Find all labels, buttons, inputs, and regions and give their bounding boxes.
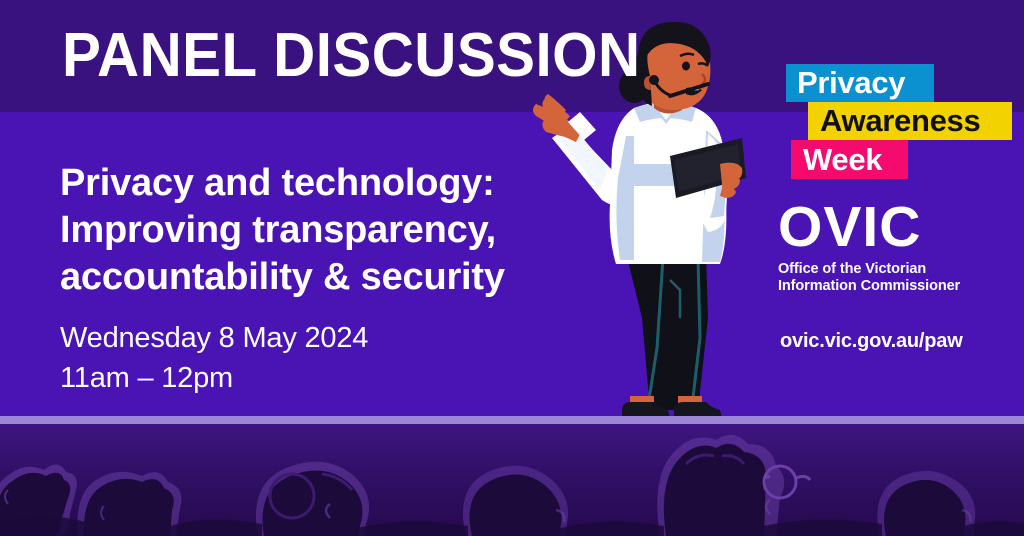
- ovic-subtitle: Office of the Victorian Information Comm…: [778, 261, 960, 295]
- headline-line-2: Improving transparency,: [60, 207, 590, 254]
- badge-awareness: Awareness: [808, 102, 1012, 140]
- privacy-awareness-week-badges: Privacy Awareness Week: [780, 64, 1020, 184]
- kicker-heading: PANEL DISCUSSION: [62, 22, 641, 90]
- ovic-subtitle-line-1: Office of the Victorian: [778, 261, 960, 278]
- headline: Privacy and technology: Improving transp…: [60, 160, 590, 301]
- headline-line-1: Privacy and technology:: [60, 160, 590, 207]
- promo-poster: PANEL DISCUSSION Privacy and technology:…: [0, 0, 1024, 536]
- audience-illustration: [0, 418, 1024, 536]
- badge-week: Week: [791, 140, 908, 179]
- ovic-wordmark: OVIC: [778, 200, 960, 254]
- ovic-logo: OVIC Office of the Victorian Information…: [778, 200, 960, 295]
- headline-line-3: accountability & security: [60, 254, 590, 301]
- event-date: Wednesday 8 May 2024: [60, 318, 368, 358]
- badge-privacy: Privacy: [786, 64, 934, 102]
- event-datetime: Wednesday 8 May 2024 11am – 12pm: [60, 318, 368, 398]
- website-url: ovic.vic.gov.au/paw: [780, 330, 963, 353]
- event-time: 11am – 12pm: [60, 358, 368, 398]
- ovic-subtitle-line-2: Information Commissioner: [778, 278, 960, 295]
